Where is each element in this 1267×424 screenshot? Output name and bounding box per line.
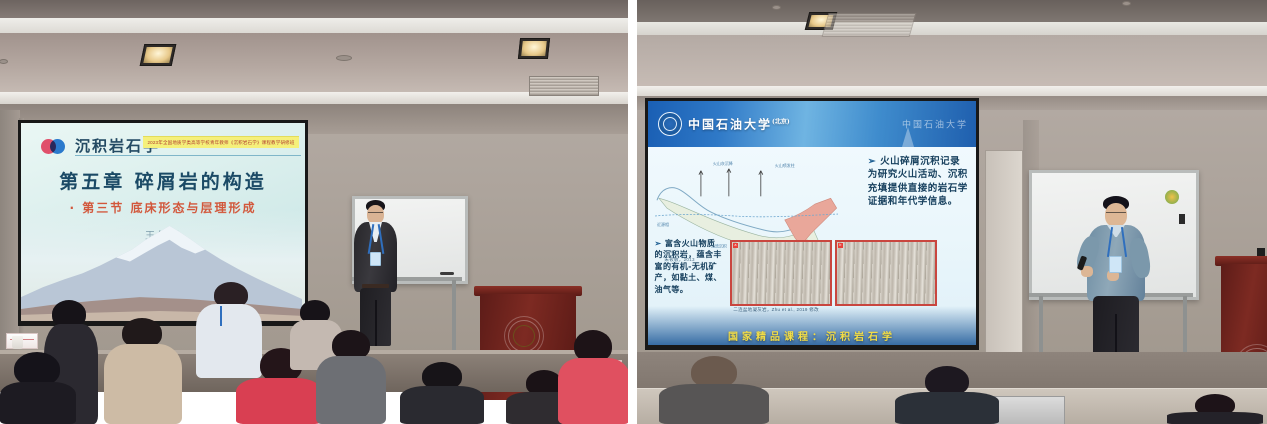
- core-photo-a: a: [730, 240, 832, 306]
- audience-body: [316, 356, 386, 424]
- svg-text:近源相: 近源相: [657, 222, 669, 227]
- whiteboard-marker: [440, 272, 454, 275]
- audience-member: [0, 352, 76, 424]
- paper-cup: [12, 336, 23, 349]
- projection-screen: 中国石油大学(北京) 中国石油大学: [648, 101, 976, 345]
- left-lecture-photo: 沉积岩石学 2023年全国地质学类高等学校青年教师《沉积岩石学》课程教学研修班 …: [0, 0, 628, 424]
- slide-right: 中国石油大学(北京) 中国石油大学: [648, 101, 976, 345]
- screenshot-root: 沉积岩石学 2023年全国地质学类高等学校青年教师《沉积岩石学》课程教学研修班 …: [0, 0, 1267, 424]
- whiteboard-magnet-icon: [1165, 190, 1179, 204]
- svg-text:火山灰沉降: 火山灰沉降: [712, 161, 732, 166]
- slide-left: 沉积岩石学 2023年全国地质学类高等学校青年教师《沉积岩石学》课程教学研修班 …: [21, 123, 305, 321]
- audience-member: [400, 362, 484, 424]
- university-sub: (北京): [772, 119, 790, 126]
- ceiling-downlight: [140, 44, 177, 66]
- ceiling-downlight: [518, 38, 550, 59]
- audience-member: [895, 366, 999, 424]
- lanyard: [220, 306, 222, 326]
- name-badge: [370, 252, 381, 266]
- slide-bullet-right-text: 火山碎屑沉积记录为研究火山活动、沉积充填提供直接的岩石学证据和年代学信息。: [868, 156, 968, 207]
- ceiling-air-vent: [822, 13, 917, 37]
- smoke-detector-icon: [1123, 2, 1130, 5]
- wall-column-left: [0, 110, 20, 360]
- university-seal-icon: [658, 112, 682, 136]
- smoke-detector-icon: [0, 60, 7, 63]
- audience-body: [895, 392, 999, 424]
- audience-body: [659, 384, 769, 424]
- smoke-detector-icon: [337, 56, 351, 60]
- slide-chapter-title: 第五章 碎屑岩的构造: [21, 167, 305, 194]
- slide-bullet-right: ➢ 火山碎屑沉积记录为研究火山活动、沉积充填提供直接的岩石学证据和年代学信息。: [868, 155, 970, 209]
- audience-body: [0, 382, 76, 424]
- bullet-arrow-icon: ➢: [655, 238, 662, 248]
- audience-hair: [14, 352, 60, 386]
- audience-body: [236, 378, 322, 424]
- ceiling-air-vent: [529, 76, 599, 96]
- glasses-icon: [1106, 212, 1126, 216]
- ceiling-panel: [637, 35, 1267, 91]
- core-photo-b: b: [835, 240, 937, 306]
- slide-header-watermark: 中国石油大学: [902, 118, 968, 131]
- slide-bullet-left: ➢ 富含火山物质的沉积岩，蕴含丰富的有机-无机矿产，如黏土、煤、油气等。: [655, 238, 724, 296]
- slide-ribbon-banner: 2023年全国地质学类高等学校青年教师《沉积岩石学》课程教学研修班: [143, 136, 299, 148]
- svg-text:火山喷发柱: 火山喷发柱: [774, 163, 794, 168]
- slide-footer-text: 国家精品课程：沉积岩石学: [648, 328, 976, 343]
- audience-body: [558, 358, 628, 424]
- audience-member: [659, 356, 769, 424]
- whiteboard-leg: [1183, 296, 1187, 356]
- presenter-left: [348, 200, 402, 350]
- university-main: 中国石油大学: [688, 118, 772, 132]
- projection-screen: 沉积岩石学 2023年全国地质学类高等学校青年教师《沉积岩石学》课程教学研修班 …: [21, 123, 305, 321]
- slide-header-band: 中国石油大学(北京) 中国石油大学: [648, 101, 976, 147]
- slide-logo-icon: [41, 139, 67, 154]
- core-photo-label: b: [838, 243, 843, 248]
- panel-divider: [628, 0, 637, 424]
- whiteboard-clip: [1179, 214, 1185, 224]
- audience-body: [104, 344, 182, 424]
- slide-core-photos: a b: [730, 240, 937, 306]
- audience-body: [400, 386, 484, 424]
- presenter-right: [1079, 196, 1155, 372]
- audience-member: [316, 330, 386, 424]
- slide-header-rule: [75, 155, 301, 156]
- audience-member: [558, 330, 628, 424]
- podium-mic-top: [1257, 248, 1265, 256]
- audience-member: [1167, 394, 1263, 424]
- slide-bullet-left-text: 富含火山物质的沉积岩，蕴含丰富的有机-无机矿产，如黏土、煤、油气等。: [655, 238, 722, 294]
- core-photo-label: a: [733, 243, 738, 248]
- slide-university-name: 中国石油大学(北京): [688, 116, 790, 133]
- name-badge: [1109, 256, 1122, 273]
- audience-member: [104, 318, 182, 424]
- glasses-icon: [368, 212, 383, 216]
- smoke-detector-icon: [773, 6, 780, 9]
- audience-body: [1167, 412, 1263, 424]
- side-door: [985, 150, 1023, 358]
- bullet-arrow-icon: ➢: [868, 156, 876, 167]
- right-lecture-photo: 中国石油大学(北京) 中国石油大学: [637, 0, 1267, 424]
- slide-ribbon-text: 2023年全国地质学类高等学校青年教师《沉积岩石学》课程教学研修班: [143, 137, 299, 148]
